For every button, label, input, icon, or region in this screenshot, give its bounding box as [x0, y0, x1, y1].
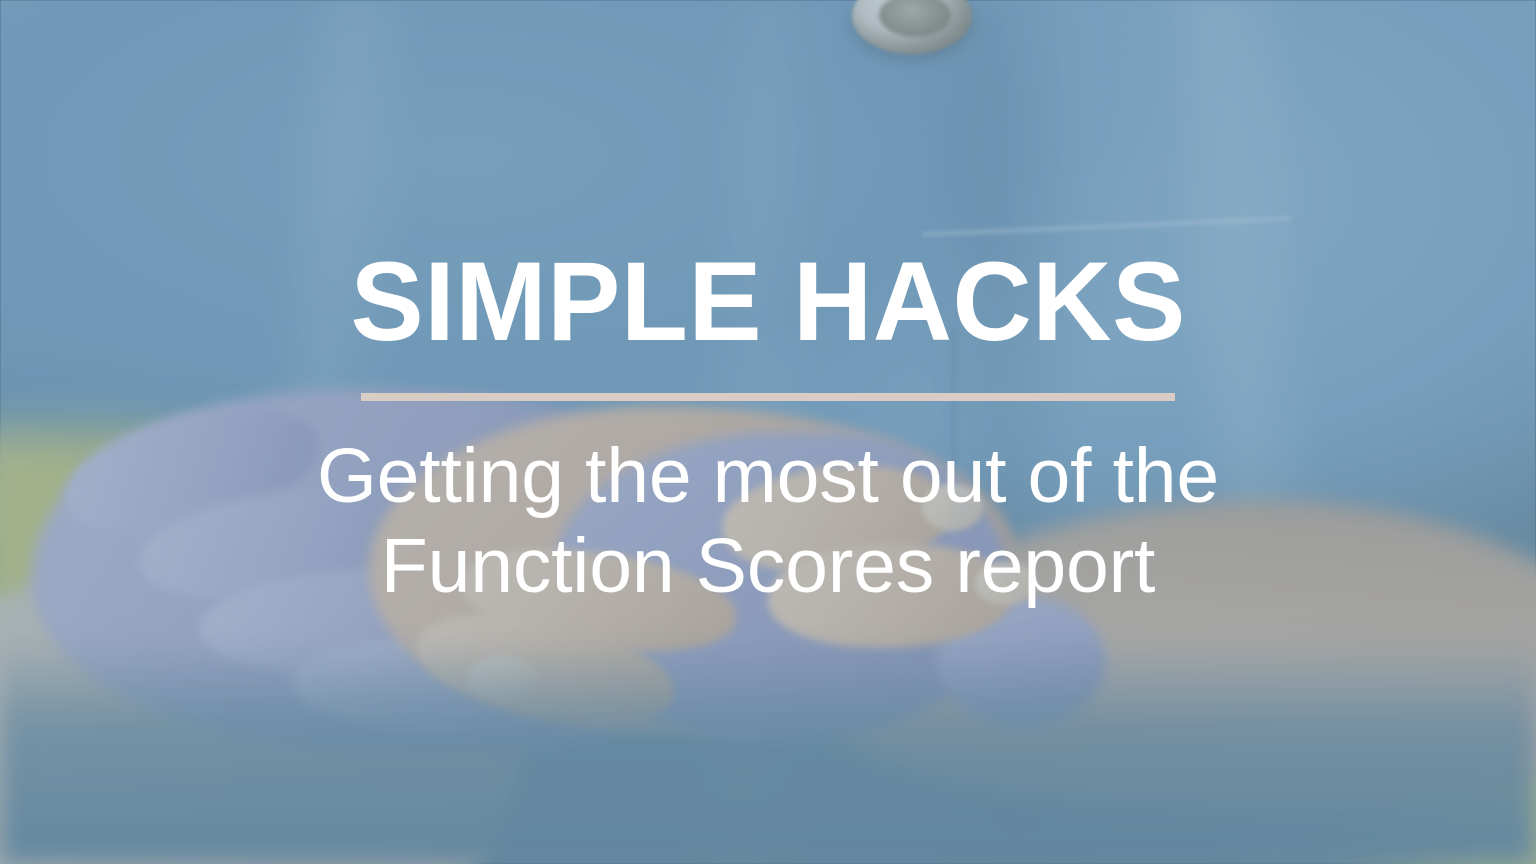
title-slide: SIMPLE HACKS Getting the most out of the… — [0, 0, 1536, 864]
slide-subtitle: Getting the most out of the Function Sco… — [317, 431, 1219, 611]
slide-subtitle-line-1: Getting the most out of the — [317, 431, 1219, 521]
slide-content: SIMPLE HACKS Getting the most out of the… — [0, 0, 1536, 864]
slide-subtitle-line-2: Function Scores report — [317, 521, 1219, 611]
title-divider-rule — [361, 393, 1175, 401]
slide-title: SIMPLE HACKS — [350, 245, 1185, 359]
